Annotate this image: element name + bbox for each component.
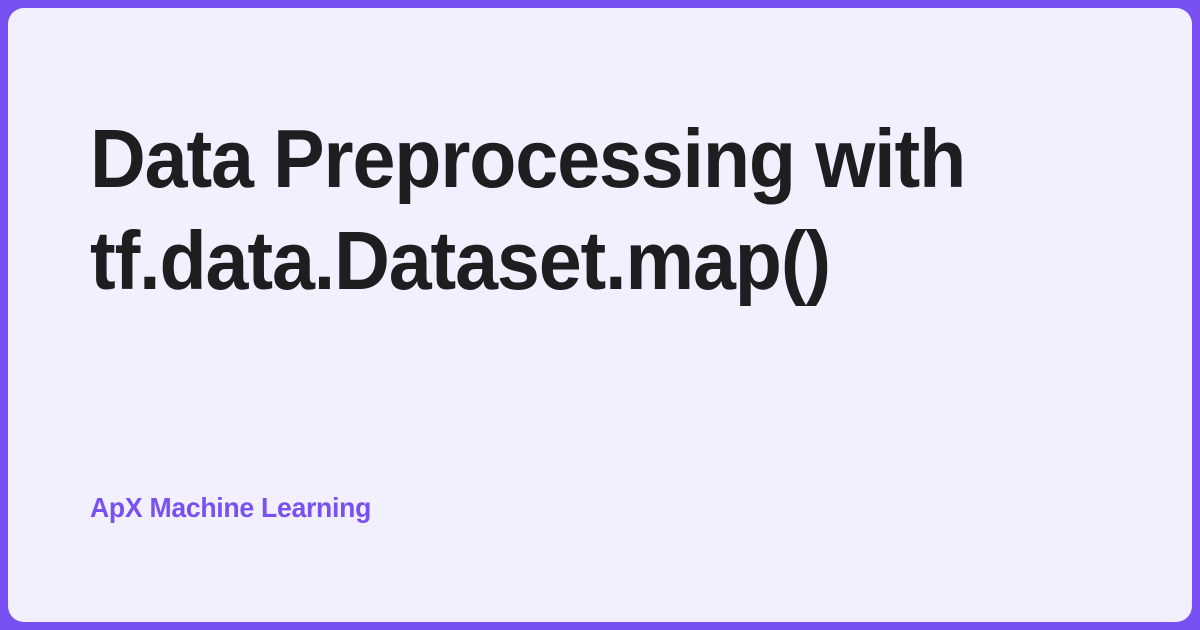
brand-block: ApX Machine Learning xyxy=(90,491,386,525)
brand-name: ApX Machine Learning xyxy=(90,491,371,525)
social-card-surface: Data Preprocessing with tf.data.Dataset.… xyxy=(8,8,1192,622)
hero-title-block: Data Preprocessing with tf.data.Dataset.… xyxy=(90,108,1090,312)
social-card-frame: Data Preprocessing with tf.data.Dataset.… xyxy=(0,0,1200,630)
page-title: Data Preprocessing with tf.data.Dataset.… xyxy=(90,108,1020,312)
